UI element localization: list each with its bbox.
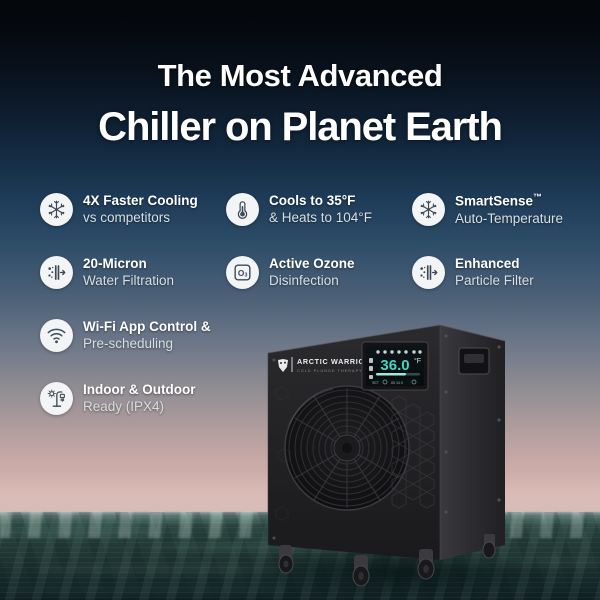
feature-item-indoor-outdoor: Indoor & Outdoor Ready (IPX4): [40, 381, 195, 416]
marketing-content: The Most Advanced Chiller on Planet Eart…: [0, 0, 600, 600]
feature-item-wifi-app-control: Wi-Fi App Control & Pre-scheduling: [40, 318, 211, 353]
feature-subtitle: Disinfection: [269, 272, 355, 289]
particle-filter-icon: [40, 256, 73, 289]
feature-title: 20-Micron: [83, 255, 174, 272]
wifi-icon: [40, 319, 73, 352]
feature-title: Cools to 35°F: [269, 192, 372, 209]
feature-title: Indoor & Outdoor: [83, 381, 195, 398]
feature-subtitle: Particle Filter: [455, 272, 534, 289]
feature-row: 20-Micron Water Filtration O 3 Active Oz…: [0, 255, 600, 318]
feature-subtitle: Water Filtration: [83, 272, 174, 289]
feature-title: SmartSense™: [455, 192, 563, 210]
feature-item-cools-to-35f: Cools to 35°F & Heats to 104°F: [226, 192, 372, 227]
feature-item-20-micron: 20-Micron Water Filtration: [40, 255, 174, 290]
feature-row: Wi-Fi App Control & Pre-scheduling: [0, 318, 600, 381]
feature-item-enhanced-particle-filter: Enhanced Particle Filter: [412, 255, 534, 290]
feature-subtitle: Ready (IPX4): [83, 398, 195, 415]
snowflake-icon: [412, 193, 445, 226]
headline-line-2: Chiller on Planet Earth: [0, 102, 600, 152]
ozone-icon: O 3: [226, 256, 259, 289]
feature-subtitle: Auto-Temperature: [455, 210, 563, 227]
trademark-symbol: ™: [533, 192, 542, 202]
feature-row: 4X Faster Cooling vs competitors Cools t…: [0, 192, 600, 255]
feature-title: Enhanced: [455, 255, 534, 272]
feature-title: Active Ozone: [269, 255, 355, 272]
feature-row: Indoor & Outdoor Ready (IPX4): [0, 381, 600, 444]
thermometer-icon: [226, 193, 259, 226]
feature-title: 4X Faster Cooling: [83, 192, 198, 209]
snowflake-icon: [40, 193, 73, 226]
feature-title: Wi-Fi App Control &: [83, 318, 211, 335]
feature-item-active-ozone: O 3 Active Ozone Disinfection: [226, 255, 355, 290]
svg-text:3: 3: [245, 272, 248, 278]
feature-subtitle: & Heats to 104°F: [269, 209, 372, 226]
feature-item-smartsense: SmartSense™ Auto-Temperature: [412, 192, 563, 227]
particle-filter-icon: [412, 256, 445, 289]
feature-subtitle: vs competitors: [83, 209, 198, 226]
feature-subtitle: Pre-scheduling: [83, 335, 211, 352]
headline-line-1: The Most Advanced: [0, 56, 600, 96]
feature-list: 4X Faster Cooling vs competitors Cools t…: [0, 192, 600, 444]
feature-item-4x-faster-cooling: 4X Faster Cooling vs competitors: [40, 192, 198, 227]
headline-block: The Most Advanced Chiller on Planet Eart…: [0, 0, 600, 152]
weather-resistant-icon: [40, 382, 73, 415]
